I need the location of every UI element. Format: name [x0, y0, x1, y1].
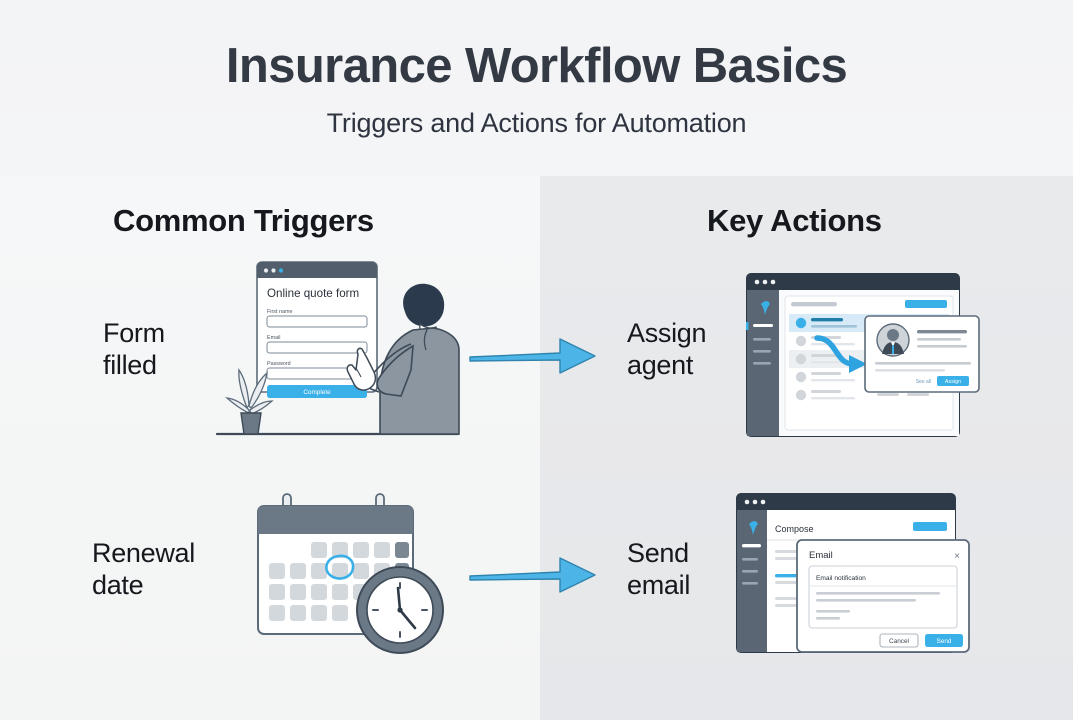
window-dot-1: [755, 280, 760, 285]
agent-assign-popup: See all Assign: [865, 316, 979, 392]
actions-column-heading: Key Actions: [707, 203, 882, 239]
sidebar-item-active: [742, 544, 761, 547]
email-cancel-label: Cancel: [889, 638, 909, 645]
popup-assign-label: Assign: [945, 379, 961, 385]
window-dot-1: [745, 500, 750, 505]
flow-arrow-row2: [468, 552, 598, 598]
page-header: Insurance Workflow Basics Triggers and A…: [0, 0, 1073, 176]
trigger-label-line1: Form: [103, 318, 165, 350]
row-avatar: [796, 318, 806, 328]
field-input-email: [267, 342, 367, 353]
quote-form-title: Online quote form: [267, 287, 359, 300]
sidebar-item: [753, 338, 771, 341]
email-window-title: Compose: [775, 524, 814, 534]
window-dot-1: [264, 268, 268, 272]
field-label-first-name: First name: [267, 309, 292, 315]
flow-arrow-row1: [468, 333, 598, 379]
page-subtitle: Triggers and Actions for Automation: [327, 108, 747, 139]
sidebar-item-active: [753, 324, 773, 327]
window-dot-2: [763, 280, 768, 285]
trigger-label-form-filled: Form filled: [103, 318, 165, 382]
row-avatar: [796, 372, 806, 382]
trigger-label-line2: filled: [103, 350, 165, 382]
email-send-label: Send: [937, 638, 952, 645]
trigger-label-line2: date: [92, 570, 195, 602]
window-dot-2: [271, 268, 275, 272]
quote-form-submit-label: Complete: [303, 389, 331, 396]
field-label-password: Password: [267, 361, 291, 367]
window-dot-3: [761, 500, 766, 505]
email-subject-value: Email notification: [816, 575, 866, 582]
field-label-email: Email: [267, 335, 280, 341]
row-avatar: [796, 390, 806, 400]
plant-decoration: [227, 370, 272, 434]
email-modal-close-icon: ×: [954, 551, 960, 562]
primary-action-button: [905, 300, 947, 308]
toolbar-title-placeholder: [791, 302, 837, 306]
sidebar-active-marker: [746, 322, 749, 330]
sidebar-item: [753, 350, 771, 353]
action-label-assign-agent: Assign agent: [627, 318, 706, 382]
illustration-calendar: [248, 492, 463, 657]
page-title: Insurance Workflow Basics: [226, 40, 847, 94]
row-avatar: [796, 336, 806, 346]
row-avatar: [796, 354, 806, 364]
compose-primary-button: [913, 522, 947, 531]
illustration-assign-agent: See all Assign: [745, 272, 983, 440]
popup-secondary-label: See all: [916, 379, 931, 385]
sidebar-item: [742, 570, 758, 573]
clock-icon: [357, 567, 443, 653]
sidebar-item: [742, 558, 758, 561]
sidebar-item: [753, 362, 771, 365]
window-dot-3: [279, 268, 283, 272]
action-label-line2: email: [627, 570, 690, 602]
action-label-send-email: Send email: [627, 538, 690, 602]
email-modal: Email × Email notification Cancel Send: [797, 540, 969, 652]
sidebar-item: [742, 582, 758, 585]
window-dot-3: [771, 280, 776, 285]
trigger-label-line1: Renewal: [92, 538, 195, 570]
window-dot-2: [753, 500, 758, 505]
email-sidebar: [737, 510, 767, 652]
action-label-line1: Assign: [627, 318, 706, 350]
action-label-line2: agent: [627, 350, 706, 382]
triggers-column-heading: Common Triggers: [113, 203, 374, 239]
action-label-line1: Send: [627, 538, 690, 570]
illustration-quote-form: Online quote form First name Email Passw…: [215, 258, 460, 443]
field-input-first-name: [267, 316, 367, 327]
email-modal-title: Email: [809, 550, 833, 561]
trigger-label-renewal-date: Renewal date: [92, 538, 195, 602]
illustration-send-email: Compose Email × Email notification Cance…: [735, 492, 985, 660]
